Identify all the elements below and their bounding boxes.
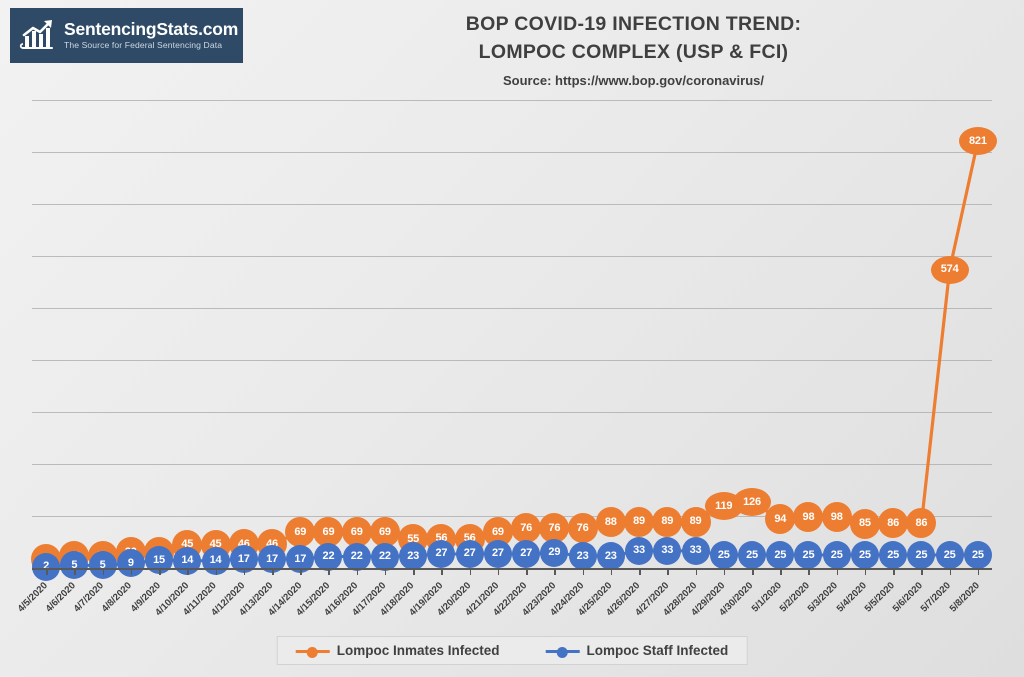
data-point-staff[interactable]: 22 — [371, 543, 399, 571]
legend-label-staff: Lompoc Staff Infected — [587, 643, 729, 658]
data-point-staff[interactable]: 25 — [823, 541, 851, 569]
data-point-inmates[interactable]: 88 — [596, 507, 626, 537]
x-axis-label: 4/6/2020 — [44, 580, 78, 614]
data-point-staff[interactable]: 27 — [484, 540, 512, 568]
data-point-inmates[interactable]: 86 — [878, 508, 908, 538]
x-axis-label: 5/2/2020 — [778, 580, 812, 614]
data-point-staff[interactable]: 25 — [907, 541, 935, 569]
data-point-staff[interactable]: 25 — [710, 541, 738, 569]
data-point-staff[interactable]: 23 — [569, 542, 597, 570]
data-point-inmates[interactable]: 76 — [568, 513, 598, 543]
data-point-inmates[interactable]: 821 — [959, 127, 997, 155]
chart-title-line-2: LOMPOC COMPLEX (USP & FCI) — [243, 38, 1024, 66]
brand-tagline: The Source for Federal Sentencing Data — [64, 41, 238, 50]
chart-source: Source: https://www.bop.gov/coronavirus/ — [243, 73, 1024, 88]
data-point-staff[interactable]: 25 — [964, 541, 992, 569]
data-point-staff[interactable]: 27 — [427, 540, 455, 568]
series-line-inmates — [46, 141, 978, 559]
x-axis-label: 5/4/2020 — [834, 580, 868, 614]
chart-header: BOP COVID-19 INFECTION TREND: LOMPOC COM… — [243, 10, 1024, 88]
data-point-inmates[interactable]: 89 — [624, 507, 654, 537]
x-axis-label: 5/3/2020 — [806, 580, 840, 614]
brand-name: SentencingStats.com — [64, 21, 238, 39]
data-point-staff[interactable]: 33 — [682, 537, 710, 565]
data-point-inmates[interactable]: 574 — [931, 256, 969, 284]
legend-label-inmates: Lompoc Inmates Infected — [337, 643, 500, 658]
data-point-staff[interactable]: 25 — [738, 541, 766, 569]
chart-legend[interactable]: Lompoc Inmates Infected Lompoc Staff Inf… — [277, 636, 748, 665]
data-point-staff[interactable]: 23 — [597, 542, 625, 570]
data-point-inmates[interactable]: 98 — [793, 502, 823, 532]
site-logo[interactable]: SentencingStats.com The Source for Feder… — [10, 8, 243, 63]
x-axis-labels: 4/5/20204/6/20204/7/20204/8/20204/9/2020… — [32, 574, 992, 630]
data-point-staff[interactable]: 27 — [512, 540, 540, 568]
data-point-staff[interactable]: 25 — [936, 541, 964, 569]
legend-marker-inmates-icon — [296, 645, 330, 657]
x-axis-label: 5/6/2020 — [891, 580, 925, 614]
x-axis-label: 5/7/2020 — [919, 580, 953, 614]
legend-marker-staff-icon — [546, 645, 580, 657]
data-point-staff[interactable]: 29 — [540, 539, 568, 567]
x-axis-label: 4/8/2020 — [100, 580, 134, 614]
data-point-staff[interactable]: 33 — [653, 537, 681, 565]
data-point-staff[interactable]: 27 — [456, 540, 484, 568]
data-point-staff[interactable]: 25 — [851, 541, 879, 569]
chart-title-line-1: BOP COVID-19 INFECTION TREND: — [243, 10, 1024, 38]
x-axis-label: 5/5/2020 — [863, 580, 897, 614]
x-axis-label: 5/1/2020 — [750, 580, 784, 614]
plot-area: 1723233030454546466969696955565669767676… — [32, 100, 992, 568]
data-point-inmates[interactable]: 69 — [285, 517, 315, 547]
chart-container: SentencingStats.com The Source for Feder… — [0, 0, 1024, 677]
legend-item-staff[interactable]: Lompoc Staff Infected — [546, 643, 729, 658]
data-point-inmates[interactable]: 98 — [822, 502, 852, 532]
x-axis-label: 4/5/2020 — [15, 580, 49, 614]
data-point-staff[interactable]: 25 — [766, 541, 794, 569]
x-axis-label: 5/8/2020 — [947, 580, 981, 614]
data-point-staff[interactable]: 25 — [879, 541, 907, 569]
legend-item-inmates[interactable]: Lompoc Inmates Infected — [296, 643, 500, 658]
data-point-inmates[interactable]: 85 — [850, 509, 880, 539]
data-point-staff[interactable]: 23 — [399, 542, 427, 570]
x-axis-label: 4/7/2020 — [72, 580, 106, 614]
data-point-inmates[interactable]: 126 — [733, 488, 771, 516]
series-lines — [32, 100, 992, 568]
data-point-staff[interactable]: 33 — [625, 537, 653, 565]
data-point-inmates[interactable]: 89 — [652, 507, 682, 537]
data-point-inmates[interactable]: 86 — [906, 508, 936, 538]
data-point-staff[interactable]: 22 — [343, 543, 371, 571]
data-point-staff[interactable]: 25 — [794, 541, 822, 569]
data-point-staff[interactable]: 22 — [314, 543, 342, 571]
bar-chart-uptrend-icon — [18, 16, 58, 56]
data-point-inmates[interactable]: 94 — [765, 504, 795, 534]
